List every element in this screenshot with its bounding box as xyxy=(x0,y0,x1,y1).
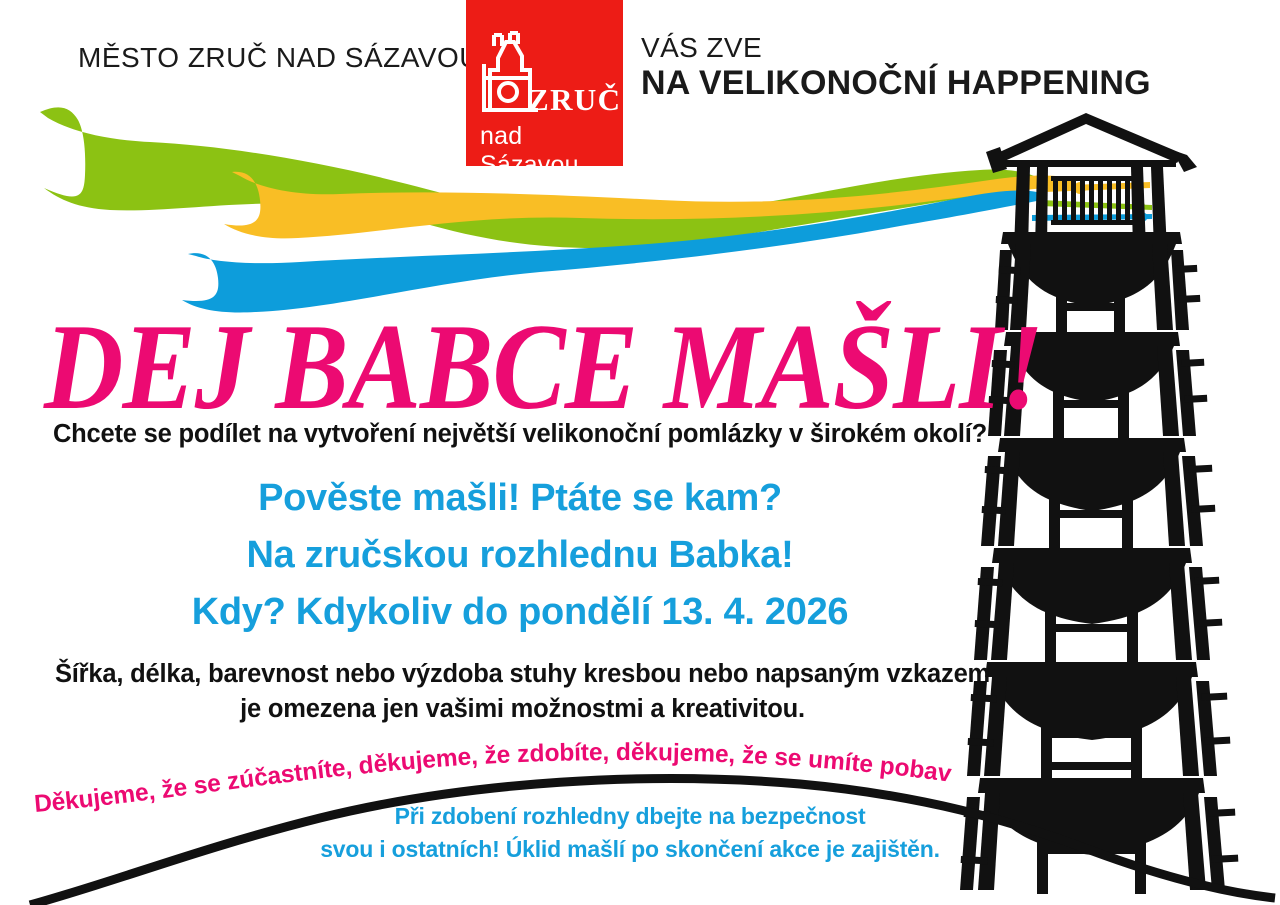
tower-brace-h-3 xyxy=(1049,482,1133,548)
safety-block: Při zdobení rozhledny dbejte na bezpečno… xyxy=(280,800,980,865)
blue-ribbon-tip xyxy=(1032,214,1152,221)
tower-roof-eave-right xyxy=(1172,150,1197,172)
green-ribbon-knot xyxy=(1135,201,1145,211)
tower-leg-left-6 xyxy=(978,793,1000,890)
detail-line-1: Pověste mašli! Ptáte se kam? xyxy=(0,470,1040,527)
tower-brace-h-1 xyxy=(1056,278,1125,340)
tower-brace-h-6 xyxy=(1037,820,1146,894)
detail-line-2: Na zručskou rozhlednu Babka! xyxy=(0,527,1040,584)
logo-subtitle: nad Sázavou xyxy=(480,122,623,180)
lookout-tower-illustration xyxy=(0,0,1280,905)
zruc-logo[interactable]: ZRUČ nad Sázavou xyxy=(466,0,623,166)
tower-post-upper-left2 xyxy=(1035,167,1048,248)
subline: Chcete se podílet na vytvoření největší … xyxy=(0,420,1040,449)
rules-block: Šířka, délka, barevnost nebo výzdoba stu… xyxy=(30,657,1015,727)
rules-line-1: Šířka, délka, barevnost nebo výzdoba stu… xyxy=(30,657,1015,692)
tower-leg-right-3 xyxy=(1163,452,1185,546)
tower-floor-4 xyxy=(985,662,1198,677)
invite-line: VÁS ZVE xyxy=(641,33,1151,63)
yellow-ribbon-knot xyxy=(1074,182,1086,194)
tower-floor-5 xyxy=(978,778,1205,793)
tower-floor-skirt-4 xyxy=(992,677,1192,740)
tower-post-upper-right2 xyxy=(1151,167,1167,250)
tower-ladder-right-3 xyxy=(1182,456,1203,546)
tower-ladder-right-1 xyxy=(1171,250,1189,330)
tower-roof-underside xyxy=(1000,160,1176,167)
ribbons-illustration xyxy=(0,0,1280,905)
page-title: DEJ BABCE MAŠLI! xyxy=(44,296,1043,438)
city-line: MĚSTO ZRUČ NAD SÁZAVOU xyxy=(78,42,480,74)
yellow-ribbon xyxy=(224,172,1076,239)
rules-line-2: je omezena jen vašimi možnostmi a kreati… xyxy=(30,692,1015,727)
tower-brace-h-2 xyxy=(1053,374,1129,438)
green-ribbon-tip xyxy=(1040,200,1152,210)
tower-railing-pickets xyxy=(1051,176,1133,225)
tower-roof xyxy=(993,113,1183,164)
tower-ladder-right-6 xyxy=(1204,797,1225,890)
safety-line-1: Při zdobení rozhledny dbejte na bezpečno… xyxy=(280,800,980,833)
ground-line xyxy=(0,0,1280,905)
yellow-ribbon-tip xyxy=(1044,182,1150,192)
blue-ribbon xyxy=(182,191,1044,313)
tower-ladder-right-5 xyxy=(1196,681,1217,776)
logo-name: ZRUČ xyxy=(528,82,621,118)
blue-ribbon-knot xyxy=(1139,213,1148,222)
tower-brace-h-5 xyxy=(1041,706,1142,778)
tower-ladder-right-4 xyxy=(1189,567,1210,660)
tower-leg-right-5 xyxy=(1176,677,1199,776)
detail-line-3: Kdy? Kdykoliv do pondělí 13. 4. 2026 xyxy=(0,584,1040,641)
tower-leg-right-6 xyxy=(1183,793,1206,890)
tower-roof-eave-left xyxy=(986,147,1007,173)
event-line: NA VELIKONOČNÍ HAPPENING xyxy=(641,65,1151,102)
tower-floor-skirt-5 xyxy=(985,793,1199,855)
tower-post-upper-left xyxy=(1014,167,1030,250)
thanks-arc-text: Děkujeme, že se zúčastníte, děkujeme, že… xyxy=(0,0,1280,905)
tower-leg-right-1 xyxy=(1152,244,1173,330)
safety-line-2: svou i ostatních! Úklid mašlí po skončen… xyxy=(280,833,980,866)
details-block: Pověste mašli! Ptáte se kam? Na zručskou… xyxy=(0,470,1040,641)
tower-post-upper-right xyxy=(1131,167,1146,250)
poster-canvas: MĚSTO ZRUČ NAD SÁZAVOU ZRUČ nad Sázavou … xyxy=(0,0,1280,905)
tower-brace-h-4 xyxy=(1045,594,1138,662)
tower-leg-right-4 xyxy=(1169,563,1192,660)
tower-leg-right-2 xyxy=(1157,346,1179,436)
tower-ladder-right-2 xyxy=(1176,350,1196,436)
tower-deck xyxy=(1001,232,1182,244)
header-invitation: VÁS ZVE NA VELIKONOČNÍ HAPPENING xyxy=(641,33,1151,102)
